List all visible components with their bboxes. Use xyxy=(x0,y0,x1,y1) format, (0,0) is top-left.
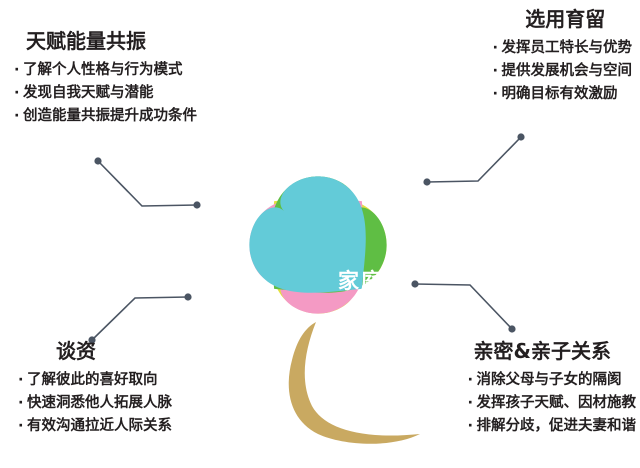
leader-line-top-right xyxy=(424,134,524,185)
list-item: ·了解个人性格与行为模式 xyxy=(14,59,197,82)
bullet-dot-icon: · xyxy=(468,415,477,438)
clover-diagram-canvas: 个人 企业 商界 家庭 天赋能量共振 ·了解个人性格与行为模式 ·发现自我天赋与… xyxy=(0,0,640,468)
list-item: ·排解分歧，促进夫妻和谐 xyxy=(468,415,637,438)
list-item: ·消除父母与子女的隔阂 xyxy=(468,369,637,392)
list-item: ·快速洞悉他人拓展人脉 xyxy=(18,392,172,415)
bullet-dot-icon: · xyxy=(468,369,477,392)
bullet-dot-icon: · xyxy=(14,59,23,82)
bullet-dot-icon: · xyxy=(493,37,502,60)
callout-top-left: 天赋能量共振 ·了解个人性格与行为模式 ·发现自我天赋与潜能 ·创造能量共振提升… xyxy=(14,30,197,128)
list-item: ·有效沟通拉近人际关系 xyxy=(18,415,172,438)
leader-line-bottom-right xyxy=(412,281,515,332)
leader-line-bottom-left xyxy=(89,294,191,343)
list-item-text: 发挥孩子天赋、因材施教 xyxy=(477,395,637,411)
callout-bullet-list: ·发挥员工特长与优势 ·提供发展机会与空间 ·明确目标有效激励 xyxy=(493,37,633,106)
list-item-text: 有效沟通拉近人际关系 xyxy=(27,418,172,434)
list-item-text: 排解分歧，促进夫妻和谐 xyxy=(477,418,637,434)
callout-bottom-left: 谈资 ·了解彼此的喜好取向 ·快速洞悉他人拓展人脉 ·有效沟通拉近人际关系 xyxy=(18,340,172,438)
callout-bullet-list: ·了解彼此的喜好取向 ·快速洞悉他人拓展人脉 ·有效沟通拉近人际关系 xyxy=(18,369,172,438)
list-item-text: 发挥员工特长与优势 xyxy=(502,40,633,56)
list-item-text: 明确目标有效激励 xyxy=(502,86,618,102)
list-item-text: 了解彼此的喜好取向 xyxy=(27,372,158,388)
bullet-dot-icon: · xyxy=(493,83,502,106)
bullet-dot-icon: · xyxy=(493,60,502,83)
callout-bottom-right: 亲密&亲子关系 ·消除父母与子女的隔阂 ·发挥孩子天赋、因材施教 ·排解分歧，促… xyxy=(468,340,637,438)
callout-bullet-list: ·消除父母与子女的隔阂 ·发挥孩子天赋、因材施教 ·排解分歧，促进夫妻和谐 xyxy=(468,369,637,438)
bullet-dot-icon: · xyxy=(18,415,27,438)
list-item: ·提供发展机会与空间 xyxy=(493,60,633,83)
bullet-dot-icon: · xyxy=(14,82,23,105)
clover-stem xyxy=(289,322,420,444)
callout-heading: 亲密&亲子关系 xyxy=(474,340,637,362)
bullet-dot-icon: · xyxy=(14,105,23,128)
callout-heading: 选用育留 xyxy=(499,8,633,30)
list-item-text: 快速洞悉他人拓展人脉 xyxy=(27,395,172,411)
list-item: ·明确目标有效激励 xyxy=(493,83,633,106)
list-item: ·发挥孩子天赋、因材施教 xyxy=(468,392,637,415)
list-item-text: 发现自我天赋与潜能 xyxy=(23,85,154,101)
list-item-text: 消除父母与子女的隔阂 xyxy=(477,372,622,388)
list-item: ·了解彼此的喜好取向 xyxy=(18,369,172,392)
callout-bullet-list: ·了解个人性格与行为模式 ·发现自我天赋与潜能 ·创造能量共振提升成功条件 xyxy=(14,59,197,128)
list-item-text: 提供发展机会与空间 xyxy=(502,63,633,79)
callout-heading: 谈资 xyxy=(56,340,172,362)
list-item: ·创造能量共振提升成功条件 xyxy=(14,105,197,128)
leader-line-top-left xyxy=(95,158,200,208)
list-item: ·发现自我天赋与潜能 xyxy=(14,82,197,105)
bullet-dot-icon: · xyxy=(18,369,27,392)
callout-top-right: 选用育留 ·发挥员工特长与优势 ·提供发展机会与空间 ·明确目标有效激励 xyxy=(493,8,633,106)
callout-heading: 天赋能量共振 xyxy=(26,30,197,52)
bullet-dot-icon: · xyxy=(18,392,27,415)
list-item-text: 了解个人性格与行为模式 xyxy=(23,62,183,78)
list-item: ·发挥员工特长与优势 xyxy=(493,37,633,60)
bullet-dot-icon: · xyxy=(468,392,477,415)
list-item-text: 创造能量共振提升成功条件 xyxy=(23,108,197,124)
